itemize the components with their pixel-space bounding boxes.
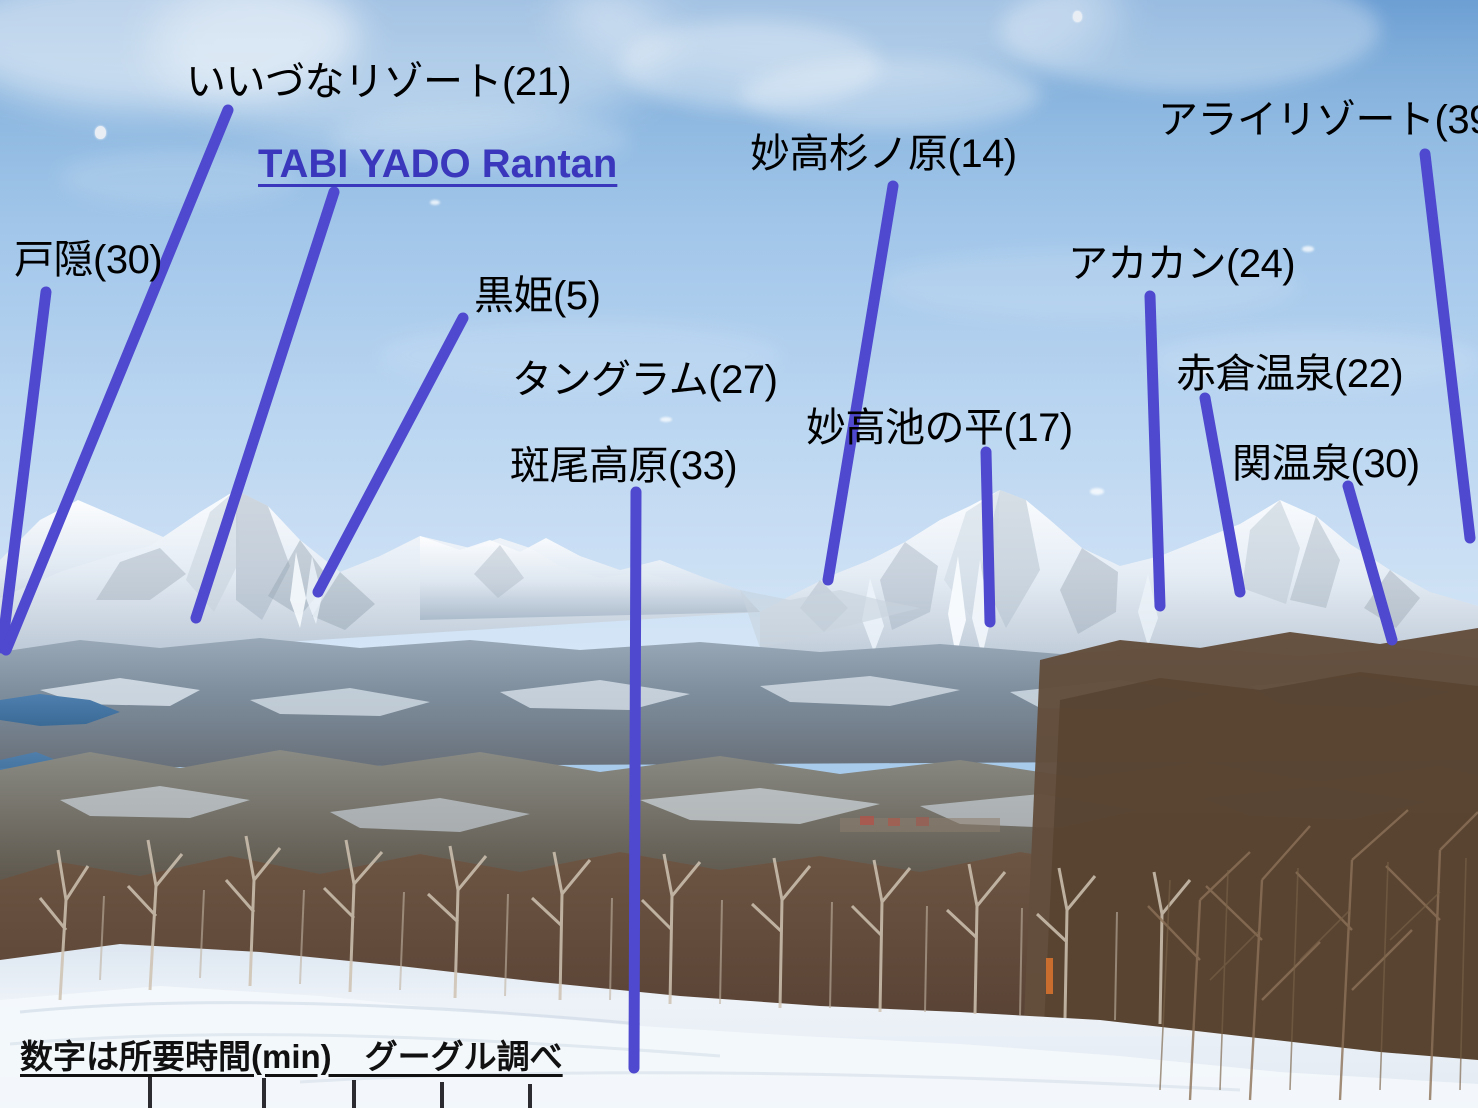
label-seki-onsen[interactable]: 関温泉(30) — [1232, 444, 1420, 484]
label-arai-resort[interactable]: アライリゾート(39) — [1158, 100, 1478, 140]
label-iizuna-resort[interactable]: いいづなリゾート(21) — [186, 62, 571, 102]
label-kurohime[interactable]: 黒姫(5) — [474, 276, 600, 316]
label-togakushi[interactable]: 戸隠(30) — [14, 240, 162, 280]
label-tabi-yado-rantan[interactable]: TABI YADO Rantan — [258, 144, 617, 184]
label-akakan[interactable]: アカカン(24) — [1068, 244, 1295, 284]
label-akakura-onsen[interactable]: 赤倉温泉(22) — [1176, 354, 1403, 394]
annotation-layer: 戸隠(30) いいづなリゾート(21) TABI YADO Rantan 黒姫(… — [0, 0, 1478, 1108]
label-myoko-ikenotaira[interactable]: 妙高池の平(17) — [806, 408, 1073, 448]
panorama-photo: 戸隠(30) いいづなリゾート(21) TABI YADO Rantan 黒姫(… — [0, 0, 1478, 1108]
label-tangram[interactable]: タングラム(27) — [512, 360, 777, 400]
label-myoko-suginohara[interactable]: 妙高杉ノ原(14) — [750, 134, 1017, 174]
label-madarao-kogen[interactable]: 斑尾高原(33) — [510, 446, 737, 486]
caption-note: 数字は所要時間(min) グーグル調べ — [20, 1040, 563, 1073]
